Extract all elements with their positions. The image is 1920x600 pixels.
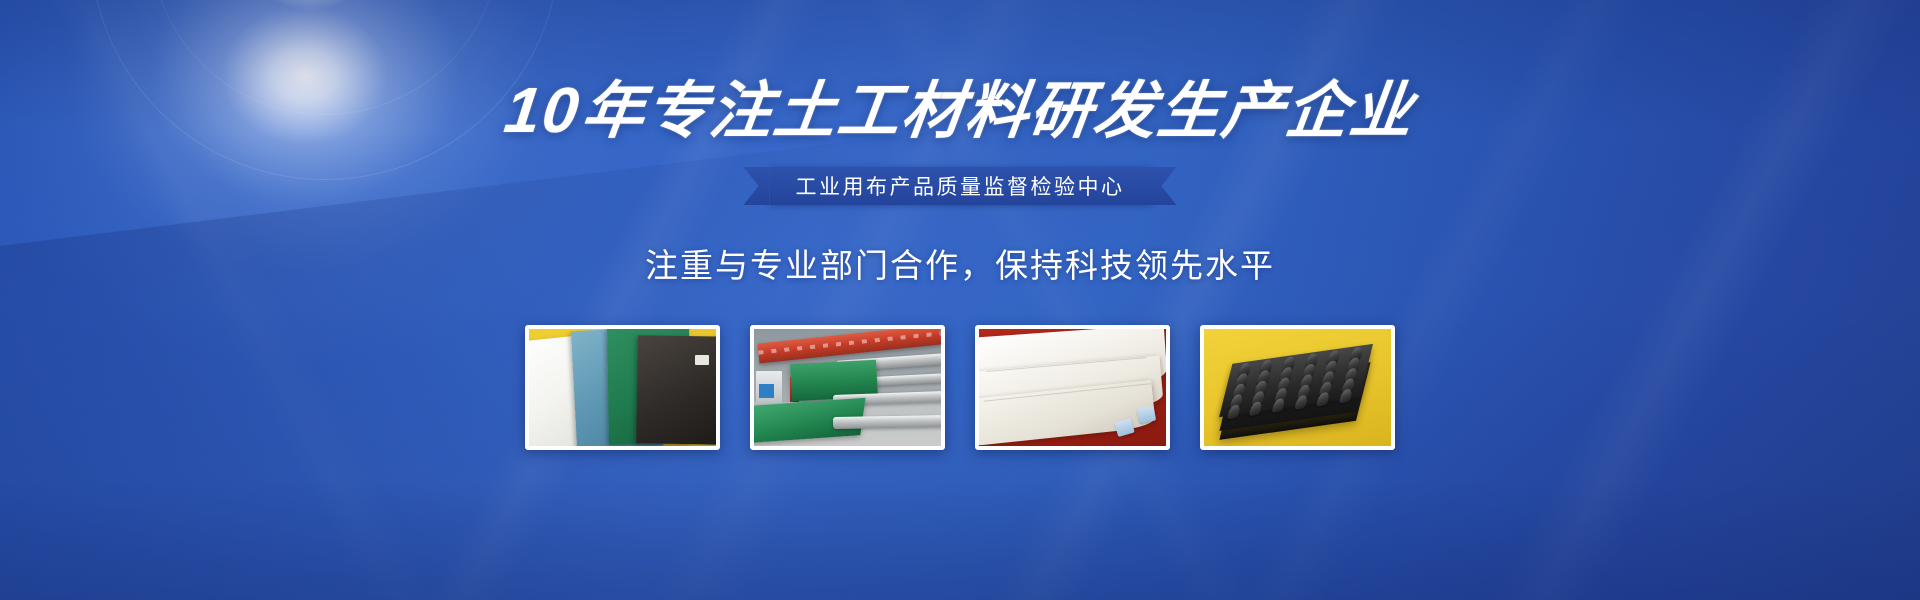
product-photo-geomembrane-sheets[interactable] xyxy=(525,325,720,450)
headline-text: 年专注土工材料研发生产企业 xyxy=(578,77,1418,146)
headline-number: 10 xyxy=(501,74,585,146)
photo-scene xyxy=(979,329,1166,446)
board-dimple xyxy=(1293,394,1307,409)
board-dimple xyxy=(1338,388,1352,403)
board-dimple xyxy=(1316,391,1330,406)
product-photo-strip xyxy=(525,325,1395,450)
fabric-label-tag-2 xyxy=(1137,406,1156,424)
fabric-label-tag-1 xyxy=(1114,418,1134,437)
certification-badge: 工业用布产品质量监督检验中心 xyxy=(770,167,1151,205)
board-dimple xyxy=(1271,398,1285,413)
hero-banner: 10年专注土工材料研发生产企业 工业用布产品质量监督检验中心 注重与专业部门合作… xyxy=(0,0,1920,600)
photo-scene xyxy=(1204,329,1391,446)
roller-4 xyxy=(832,415,941,429)
board-dimple xyxy=(1226,404,1240,419)
sheet-tag xyxy=(695,355,708,366)
photo-scene xyxy=(529,329,716,446)
banner-content: 10年专注土工材料研发生产企业 工业用布产品质量监督检验中心 注重与专业部门合作… xyxy=(0,0,1920,600)
banner-headline: 10年专注土工材料研发生产企业 xyxy=(501,78,1418,143)
banner-subtitle: 注重与专业部门合作，保持科技领先水平 xyxy=(645,239,1275,287)
photo-scene xyxy=(754,329,941,446)
certification-badge-label: 工业用布产品质量监督检验中心 xyxy=(770,167,1151,205)
control-cabinet xyxy=(756,371,782,406)
product-photo-drainage-board[interactable] xyxy=(1200,325,1395,450)
sheet-black xyxy=(637,335,716,444)
board-dimple xyxy=(1249,401,1263,416)
product-photo-production-line[interactable] xyxy=(750,325,945,450)
product-photo-geotextile-fabric[interactable] xyxy=(975,325,1170,450)
